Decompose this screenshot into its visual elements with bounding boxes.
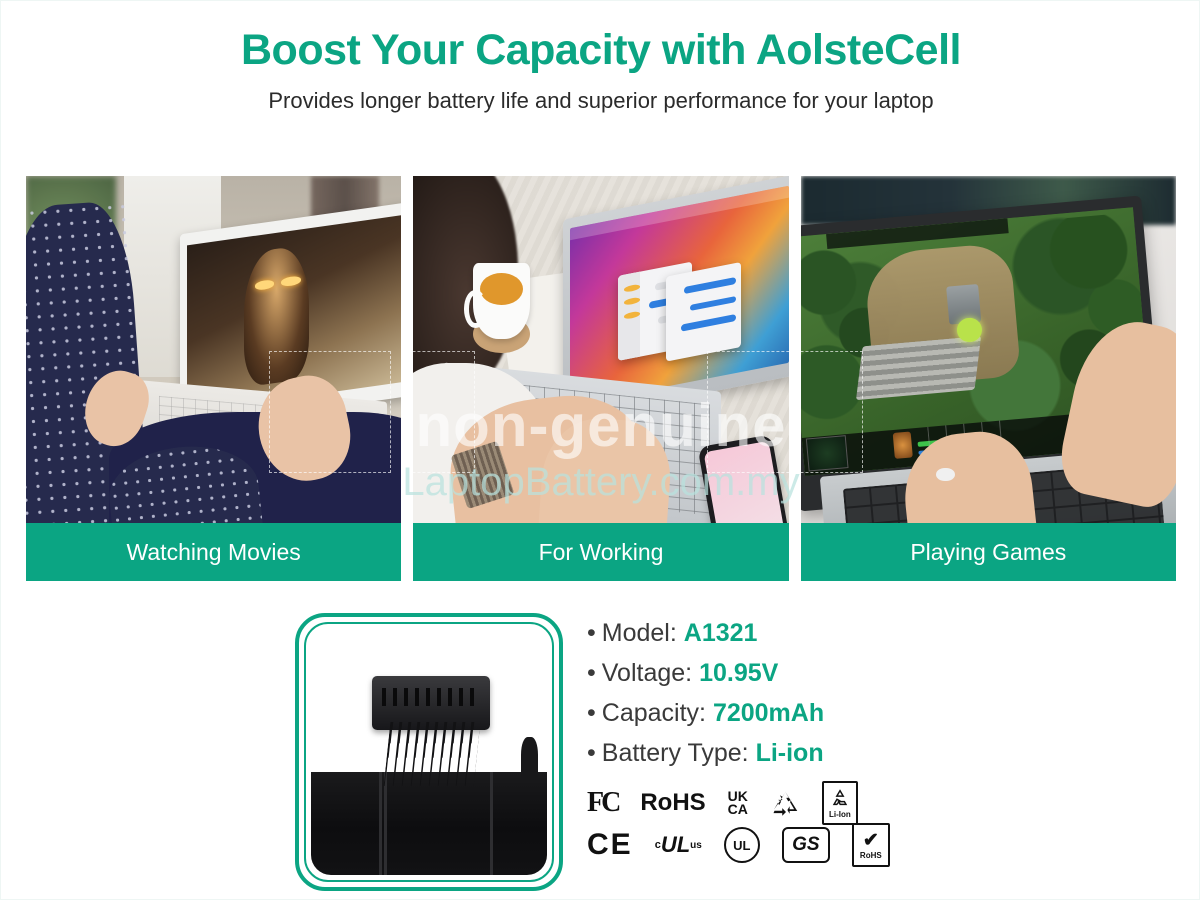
spec-list-container: •Model: A1321 •Voltage: 10.95V •Capacity… bbox=[587, 613, 907, 901]
connector-wires bbox=[383, 722, 479, 786]
tea-liquid bbox=[480, 273, 523, 305]
movie-character bbox=[244, 244, 310, 387]
cup-handle bbox=[464, 290, 486, 327]
spec-label: Model: bbox=[602, 619, 677, 647]
spec-label: Voltage: bbox=[602, 659, 692, 687]
spec-item-capacity: •Capacity: 7200mAh bbox=[587, 699, 907, 728]
panel-for-working: For Working bbox=[413, 176, 788, 581]
header: Boost Your Capacity with AolsteCell Prov… bbox=[1, 1, 1200, 114]
photo-playing-games bbox=[801, 176, 1176, 523]
panel-caption-for-working: For Working bbox=[413, 523, 788, 581]
usage-panels: Watching Movies bbox=[26, 176, 1176, 581]
spec-value: Li-ion bbox=[756, 739, 824, 767]
product-image-frame bbox=[295, 613, 563, 891]
li-ion-recycle-icon: Li-Ion bbox=[822, 786, 858, 820]
bullet-icon: • bbox=[587, 699, 596, 727]
panel-watching-movies: Watching Movies bbox=[26, 176, 401, 581]
ul-circle: UL bbox=[724, 827, 760, 863]
panel-caption-watching-movies: Watching Movies bbox=[26, 523, 401, 581]
spec-item-voltage: •Voltage: 10.95V bbox=[587, 659, 907, 688]
rohs-check-box: ✔ RoHS bbox=[852, 823, 890, 867]
cul-main: UL bbox=[661, 832, 690, 858]
panel-playing-games: Playing Games bbox=[801, 176, 1176, 581]
message-bubble bbox=[685, 277, 737, 294]
rohs-check-label: RoHS bbox=[860, 851, 882, 860]
certification-row-1: FC RoHS UK CA bbox=[587, 782, 907, 824]
cul-suffix: us bbox=[690, 840, 702, 851]
promo-page: Boost Your Capacity with AolsteCell Prov… bbox=[1, 1, 1200, 901]
photo-watching-movies bbox=[26, 176, 401, 523]
game-stone-stairs bbox=[856, 336, 981, 400]
game-minimap bbox=[805, 434, 848, 470]
battery-side-tab bbox=[521, 737, 538, 781]
panel-caption-playing-games: Playing Games bbox=[801, 523, 1176, 581]
ce-icon: CE bbox=[587, 828, 633, 862]
rohs-check-icon: ✔ RoHS bbox=[852, 828, 890, 862]
spec-value: 7200mAh bbox=[713, 699, 824, 727]
spec-item-model: •Model: A1321 bbox=[587, 619, 907, 648]
gs-icon: GS bbox=[782, 828, 830, 862]
message-bubble bbox=[690, 295, 736, 311]
spec-value: 10.95V bbox=[699, 659, 778, 687]
certification-badges: FC RoHS UK CA bbox=[587, 782, 907, 866]
spec-item-battery-type: •Battery Type: Li-ion bbox=[587, 739, 907, 768]
page-title: Boost Your Capacity with AolsteCell bbox=[1, 27, 1200, 74]
product-photo bbox=[311, 629, 547, 875]
battery-seam bbox=[490, 772, 493, 875]
spec-label: Capacity: bbox=[602, 699, 706, 727]
li-ion-box: Li-Ion bbox=[822, 781, 858, 825]
li-ion-label: Li-Ion bbox=[829, 810, 851, 819]
battery-seam bbox=[384, 772, 387, 875]
ukca-line2: CA bbox=[728, 803, 748, 816]
bullet-icon: • bbox=[587, 659, 596, 687]
phone-screen bbox=[703, 441, 784, 523]
connector-pins bbox=[382, 688, 481, 706]
finger-ring bbox=[936, 468, 955, 482]
fcc-icon: FC bbox=[587, 786, 618, 820]
photo-for-working bbox=[413, 176, 788, 523]
gs-box: GS bbox=[782, 827, 830, 863]
tea-cup bbox=[473, 263, 529, 339]
rohs-icon: RoHS bbox=[640, 786, 705, 820]
spec-value: A1321 bbox=[684, 619, 758, 647]
bullet-icon: • bbox=[587, 739, 596, 767]
message-bubble bbox=[682, 314, 737, 331]
laptop-screen bbox=[570, 186, 788, 406]
battery-seam bbox=[379, 772, 382, 875]
page-subtitle: Provides longer battery life and superio… bbox=[1, 88, 1200, 114]
bullet-icon: • bbox=[587, 619, 596, 647]
game-hero-portrait bbox=[892, 431, 912, 459]
ukca-icon: UK CA bbox=[728, 786, 748, 820]
check-mark: ✔ bbox=[863, 831, 879, 850]
cul-us-icon: c UL us bbox=[655, 828, 702, 862]
chat-window-front bbox=[667, 262, 741, 361]
ul-icon: UL bbox=[724, 828, 760, 862]
spec-list: •Model: A1321 •Voltage: 10.95V •Capacity… bbox=[587, 619, 907, 768]
battery-body bbox=[311, 772, 547, 875]
recycle-icon bbox=[770, 786, 800, 820]
certification-row-2: CE c UL us UL GS ✔ RoH bbox=[587, 824, 907, 866]
spec-label: Battery Type: bbox=[602, 739, 749, 767]
product-section: •Model: A1321 •Voltage: 10.95V •Capacity… bbox=[1, 613, 1200, 901]
